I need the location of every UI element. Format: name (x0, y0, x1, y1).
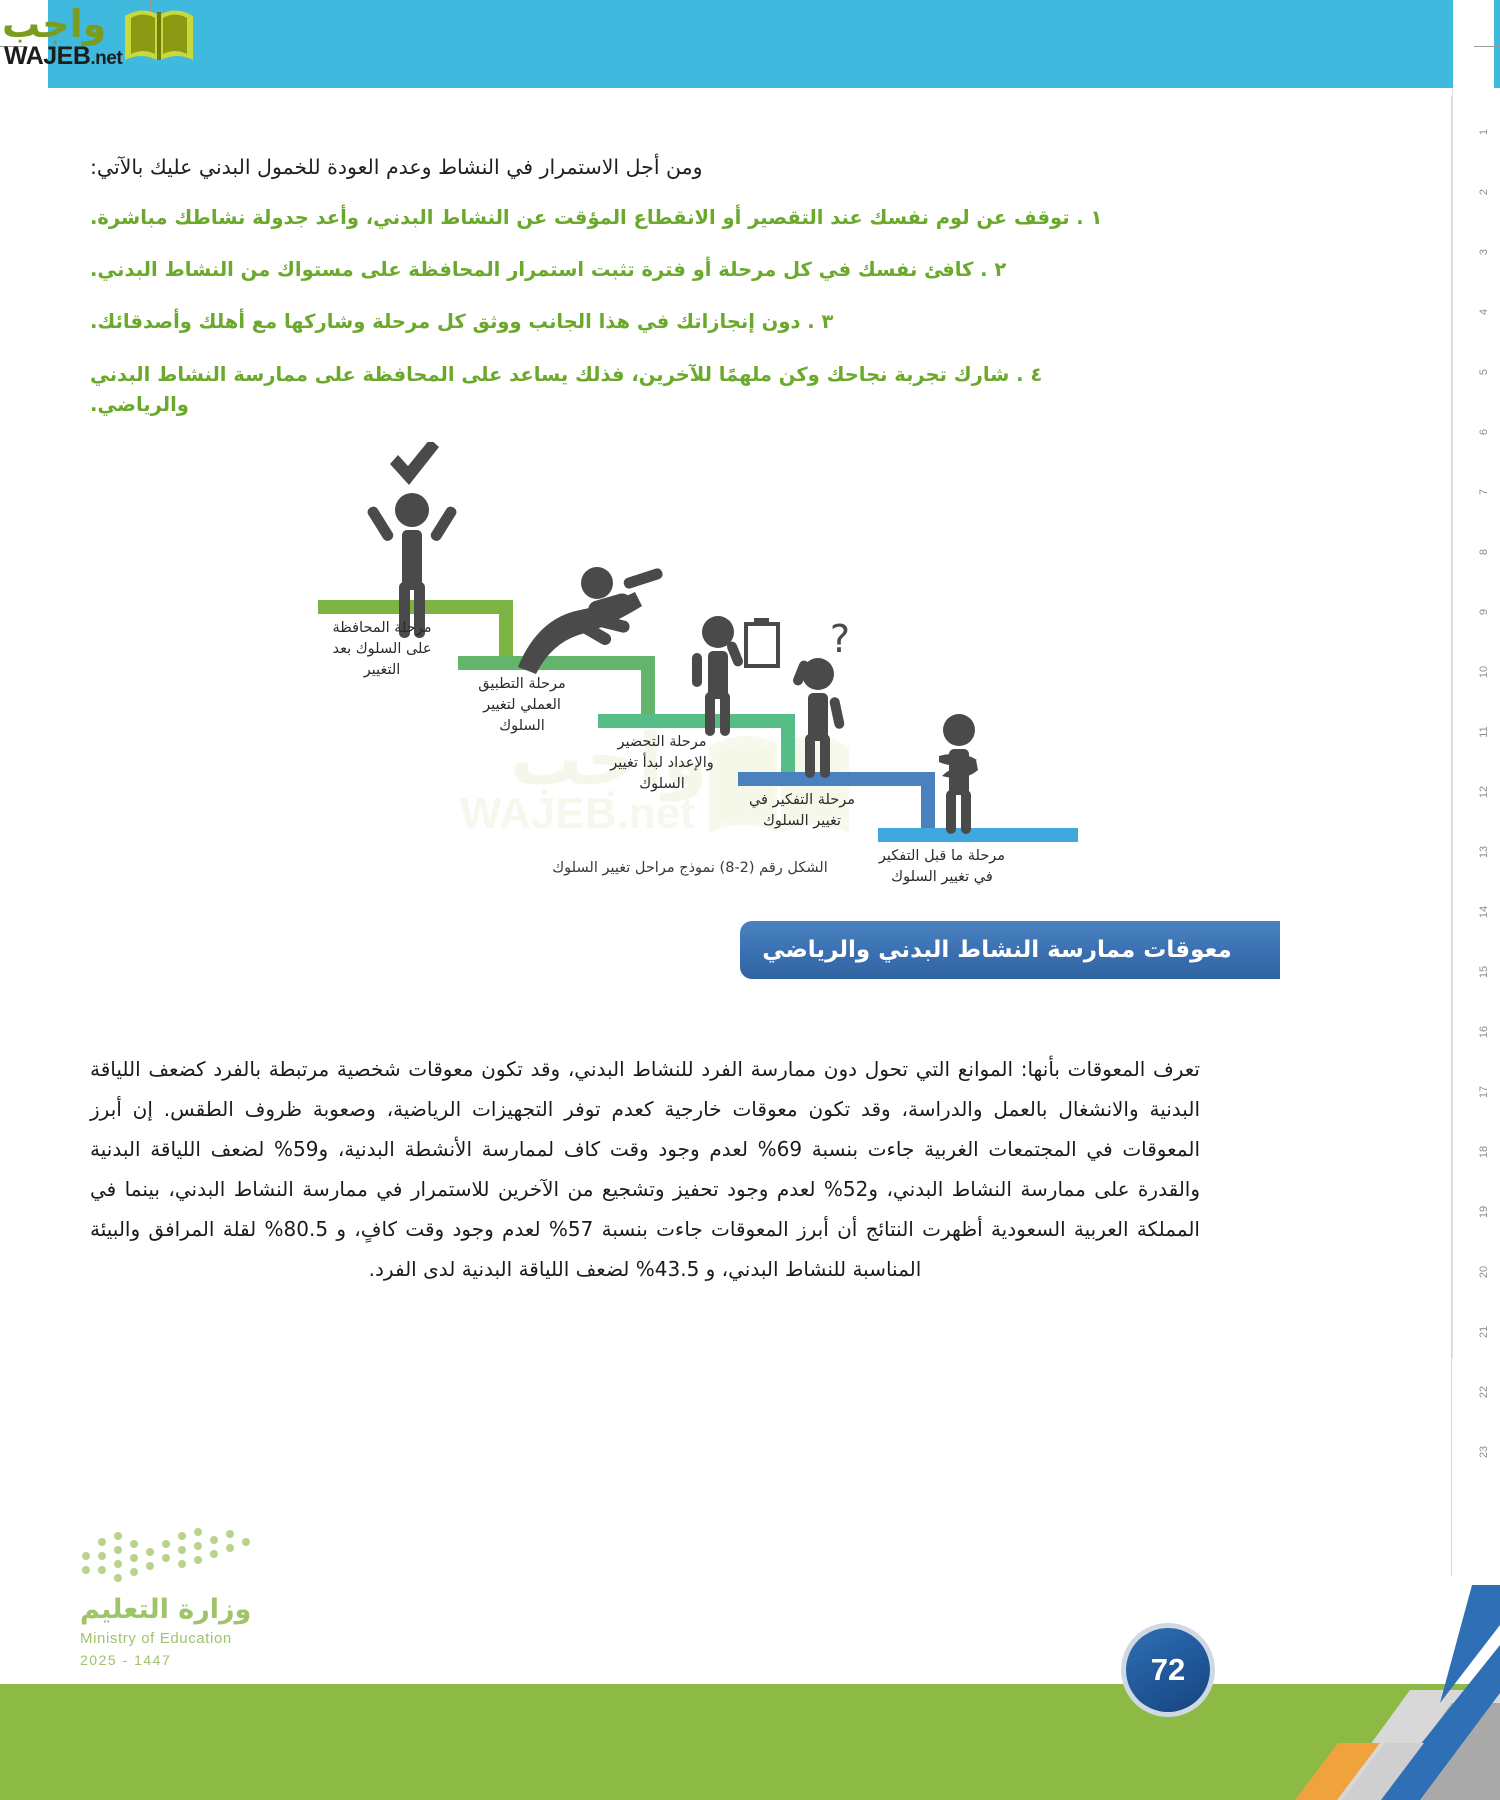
thinking-person-icon (939, 714, 978, 834)
body-paragraph: تعرف المعوقات بأنها: الموانع التي تحول د… (90, 1049, 1200, 1289)
list-item: ٤ . شارك تجربة نجاحك وكن ملهمًا للآخرين،… (90, 360, 1200, 420)
ruler-number: 7 (1478, 480, 1490, 504)
ruler-number: 22 (1478, 1380, 1490, 1404)
ruler-number: 9 (1478, 600, 1490, 624)
list-item: ٣ . دون إنجازاتك في هذا الجانب ووثق كل م… (90, 307, 1200, 337)
ruler-number: 2 (1478, 180, 1490, 204)
header-right-accent (1494, 0, 1500, 88)
ruler-number: 14 (1478, 900, 1490, 924)
ruler-strip: 1 2 3 4 5 6 7 8 9 10 11 12 13 14 15 16 1… (1451, 96, 1500, 1576)
ministry-name-arabic: وزارة التعليم (80, 1594, 251, 1625)
textbook-page: واجب WAJEB.net 1 2 3 4 5 6 7 8 9 10 11 1… (0, 0, 1500, 1800)
section-banner: معوقات ممارسة النشاط البدني والرياضي (740, 921, 1280, 979)
intro-paragraph: ومن أجل الاستمرار في النشاط وعدم العودة … (90, 150, 1200, 185)
ruler-number: 15 (1478, 960, 1490, 984)
ministry-dots-icon (78, 1526, 268, 1586)
ministry-name-english: Ministry of Education (80, 1630, 232, 1647)
page-number-badge: 72 (1126, 1628, 1210, 1712)
ruler-number: 8 (1478, 540, 1490, 564)
ruler-number: 13 (1478, 840, 1490, 864)
svg-text:?: ? (830, 617, 850, 661)
ruler-number: 4 (1478, 300, 1490, 324)
open-book-icon (123, 4, 195, 66)
header-bar (48, 0, 1453, 88)
ruler-number: 10 (1478, 660, 1490, 684)
ruler-number: 3 (1478, 240, 1490, 264)
step-label-1: مرحلة المحافظة على السلوك بعد التغيير (318, 618, 446, 681)
step-bracket-5 (878, 828, 1078, 842)
ruler-number: 6 (1478, 420, 1490, 444)
ruler-number: 11 (1478, 720, 1490, 744)
list-item: ١ . توقف عن لوم نفسك عند التقصير أو الان… (90, 203, 1200, 233)
ruler-number: 18 (1478, 1140, 1490, 1164)
figure-caption: الشكل رقم (2-8) نموذج مراحل تغيير السلوك (480, 860, 900, 876)
ruler-number: 5 (1478, 360, 1490, 384)
list-item: ٢ . كافئ نفسك في كل مرحلة أو فترة تثبت ا… (90, 255, 1200, 285)
ruler-number: 1 (1478, 120, 1490, 144)
stairs-graphic: ? (90, 442, 1200, 862)
questioning-person-icon: ? (791, 617, 850, 778)
wajeb-logo: واجب WAJEB.net (0, 0, 200, 72)
step-label-3: مرحلة التحضير والإعداد لبدأ تغيير السلوك (598, 732, 726, 795)
section-banner-title: معوقات ممارسة النشاط البدني والرياضي (762, 937, 1257, 963)
numbered-tips-list: ١ . توقف عن لوم نفسك عند التقصير أو الان… (90, 203, 1200, 420)
crop-mark-right (1474, 46, 1500, 47)
ruler-number: 17 (1478, 1080, 1490, 1104)
ministry-years: 1447 - 2025 (80, 1652, 171, 1668)
ruler-number: 12 (1478, 780, 1490, 804)
step-label-4: مرحلة التفكير في تغيير السلوك (738, 790, 866, 832)
wajeb-logo-latin: WAJEB.net (4, 42, 122, 71)
wajeb-logo-arabic: واجب (2, 2, 106, 46)
ruler-number: 21 (1478, 1320, 1490, 1344)
ruler-number: 19 (1478, 1200, 1490, 1224)
ministry-of-education-logo: وزارة التعليم Ministry of Education 1447… (78, 1526, 328, 1676)
ruler-number: 20 (1478, 1260, 1490, 1284)
ruler-number: 16 (1478, 1020, 1490, 1044)
step-label-2: مرحلة التطبيق العملي لتغيير السلوك (458, 674, 586, 737)
page-content: ومن أجل الاستمرار في النشاط وعدم العودة … (90, 150, 1200, 1309)
behavior-change-stairs-diagram: واجب WAJEB.net (90, 442, 1200, 897)
section-banner-wrap: معوقات ممارسة النشاط البدني والرياضي (90, 921, 1200, 987)
ruler-number: 23 (1478, 1440, 1490, 1464)
page-number: 72 (1151, 1652, 1185, 1688)
